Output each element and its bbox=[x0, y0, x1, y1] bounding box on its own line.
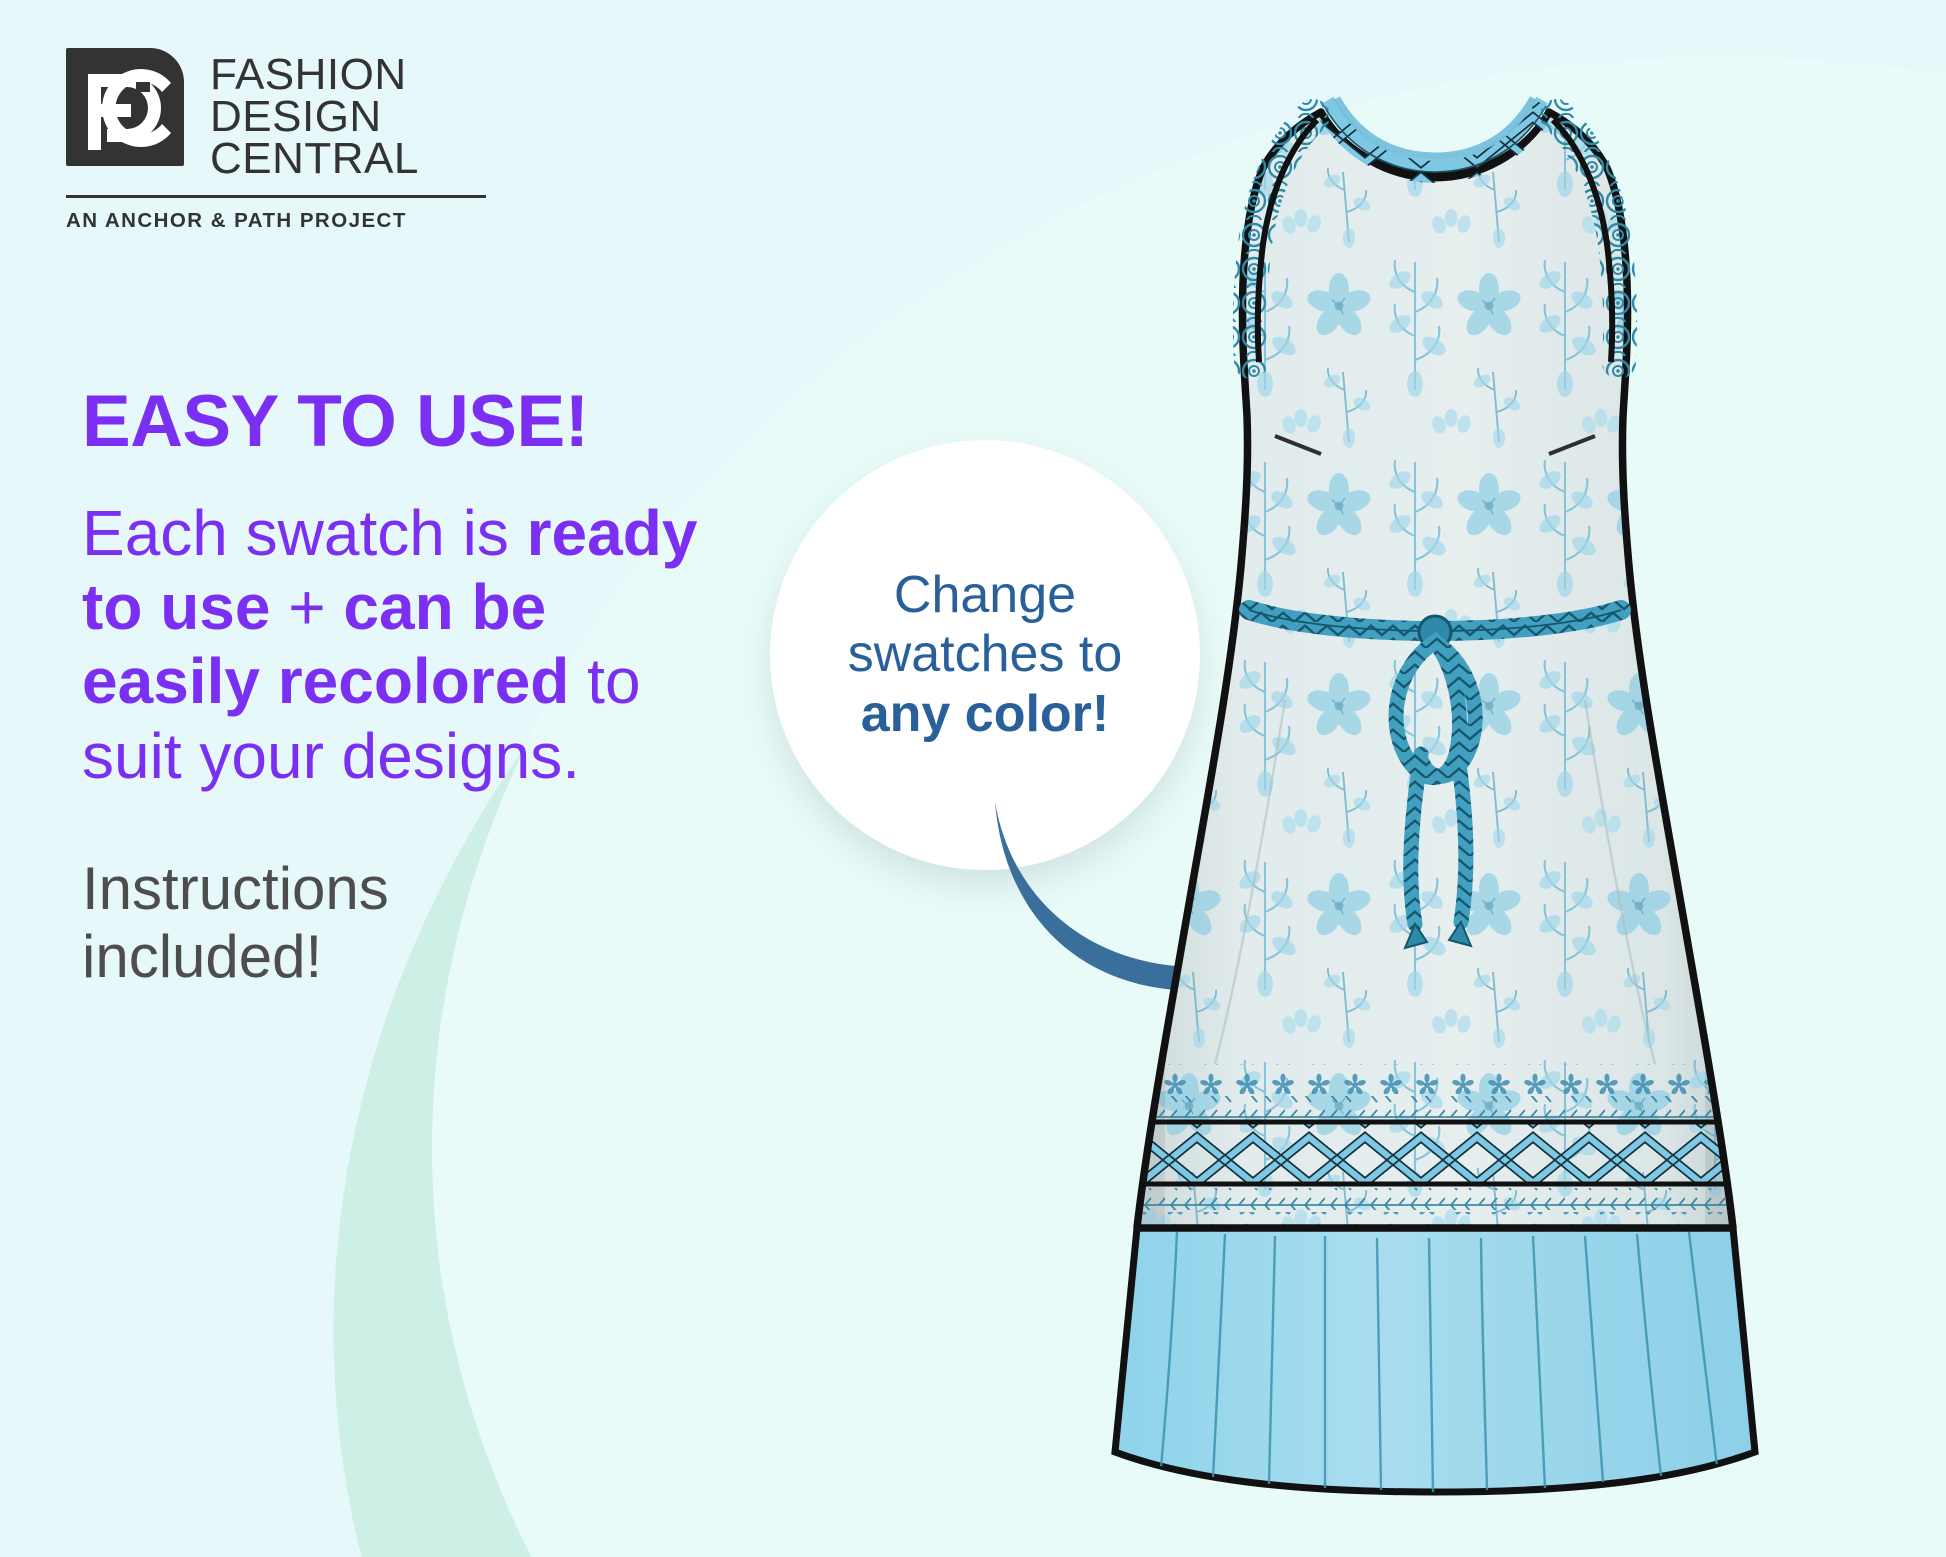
fdc-monogram-icon bbox=[66, 48, 184, 166]
dress-body bbox=[1085, 90, 1785, 1250]
logo-tagline: AN ANCHOR & PATH PROJECT bbox=[66, 209, 486, 233]
dress-ruffle-hem bbox=[1115, 1228, 1755, 1492]
logo-row: FASHION DESIGN CENTRAL bbox=[66, 48, 486, 181]
poster-canvas: FASHION DESIGN CENTRAL AN ANCHOR & PATH … bbox=[0, 0, 1946, 1557]
callout-line-3-emphasis: any color! bbox=[848, 685, 1123, 744]
instructions-note: Instructions included! bbox=[82, 855, 602, 992]
hem-decoration-bands bbox=[1085, 1064, 1785, 1240]
logo-wordmark: FASHION DESIGN CENTRAL bbox=[210, 48, 419, 181]
body-paragraph: Each swatch is ready to use + can be eas… bbox=[82, 496, 722, 793]
callout-line-2: swatches to bbox=[848, 625, 1123, 683]
page-title: EASY TO USE! bbox=[82, 385, 822, 458]
callout-line-1: Change bbox=[894, 566, 1076, 624]
logo-line-2: DESIGN bbox=[210, 96, 419, 138]
logo-line-3: CENTRAL bbox=[210, 138, 419, 180]
brand-logo[interactable]: FASHION DESIGN CENTRAL AN ANCHOR & PATH … bbox=[66, 48, 486, 233]
logo-divider bbox=[66, 195, 486, 198]
para-segment-1: Each swatch is bbox=[82, 497, 527, 569]
marketing-copy-block: EASY TO USE! Each swatch is ready to use… bbox=[82, 385, 822, 992]
dress-illustration bbox=[1085, 50, 1785, 1540]
logo-line-1: FASHION bbox=[210, 54, 419, 96]
para-segment-2: + bbox=[270, 571, 343, 643]
